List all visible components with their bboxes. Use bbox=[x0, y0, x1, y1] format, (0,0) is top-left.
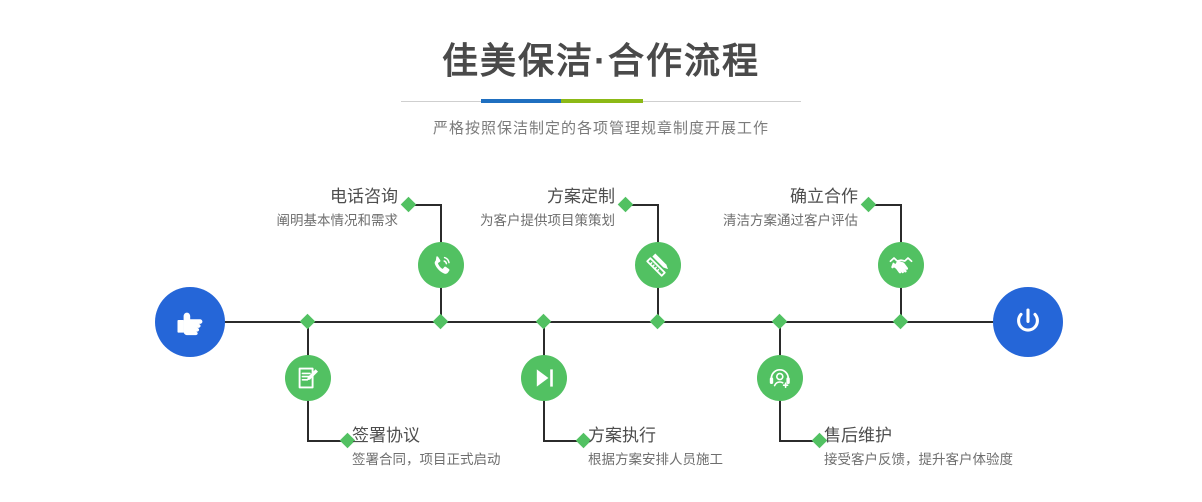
flowchart-page: 佳美保洁·合作流程 严格按照保洁制定的各项管理规章制度开展工作 bbox=[0, 0, 1202, 502]
axis-diamond-step-3 bbox=[650, 314, 666, 330]
step-label-6: 售后维护 接受客户反馈，提升客户体验度 bbox=[824, 425, 1084, 470]
axis-diamond-step-5 bbox=[893, 314, 909, 330]
step-icon-4[interactable] bbox=[521, 355, 567, 401]
step-icon-3[interactable] bbox=[635, 242, 681, 288]
pencil-ruler-icon bbox=[644, 251, 672, 279]
step-icon-6[interactable] bbox=[757, 355, 803, 401]
step-desc-4: 根据方案安排人员施工 bbox=[588, 447, 808, 470]
step-title-5: 确立合作 bbox=[700, 186, 858, 208]
step-label-4: 方案执行 根据方案安排人员施工 bbox=[588, 425, 808, 470]
step-desc-6: 接受客户反馈，提升客户体验度 bbox=[824, 447, 1084, 470]
label-diamond-step-5 bbox=[861, 197, 877, 213]
step-label-1: 电话咨询 阐明基本情况和需求 bbox=[238, 186, 398, 231]
step-title-2: 签署协议 bbox=[352, 425, 572, 447]
step-title-6: 售后维护 bbox=[824, 425, 1084, 447]
step-desc-1: 阐明基本情况和需求 bbox=[238, 208, 398, 231]
axis-diamond-step-2 bbox=[300, 314, 316, 330]
step-title-3: 方案定制 bbox=[450, 186, 615, 208]
step-icon-5[interactable] bbox=[878, 242, 924, 288]
axis-diamond-step-1 bbox=[433, 314, 449, 330]
phone-call-icon bbox=[427, 251, 455, 279]
step-desc-2: 签署合同，项目正式启动 bbox=[352, 447, 572, 470]
label-diamond-step-3 bbox=[618, 197, 634, 213]
step-desc-5: 清洁方案通过客户评估 bbox=[700, 208, 858, 231]
step-desc-3: 为客户提供项目策策划 bbox=[450, 208, 615, 231]
document-edit-icon bbox=[294, 364, 322, 392]
timeline-start-endpoint[interactable] bbox=[155, 287, 225, 357]
axis-diamond-step-6 bbox=[772, 314, 788, 330]
timeline-axis bbox=[222, 321, 1000, 323]
step-label-3: 方案定制 为客户提供项目策策划 bbox=[450, 186, 615, 231]
step-icon-2[interactable] bbox=[285, 355, 331, 401]
step-label-2: 签署协议 签署合同，项目正式启动 bbox=[352, 425, 572, 470]
step-title-4: 方案执行 bbox=[588, 425, 808, 447]
step-title-1: 电话咨询 bbox=[238, 186, 398, 208]
customer-service-icon bbox=[766, 364, 794, 392]
process-timeline: 电话咨询 阐明基本情况和需求 签署协议 签署合同，项目正式启动 bbox=[0, 0, 1202, 502]
pointing-hand-icon bbox=[171, 303, 209, 341]
timeline-end-endpoint[interactable] bbox=[993, 287, 1063, 357]
power-icon bbox=[1009, 303, 1047, 341]
label-diamond-step-1 bbox=[401, 197, 417, 213]
handshake-icon bbox=[887, 251, 915, 279]
play-execute-icon bbox=[530, 364, 558, 392]
step-icon-1[interactable] bbox=[418, 242, 464, 288]
step-label-5: 确立合作 清洁方案通过客户评估 bbox=[700, 186, 858, 231]
axis-diamond-step-4 bbox=[536, 314, 552, 330]
